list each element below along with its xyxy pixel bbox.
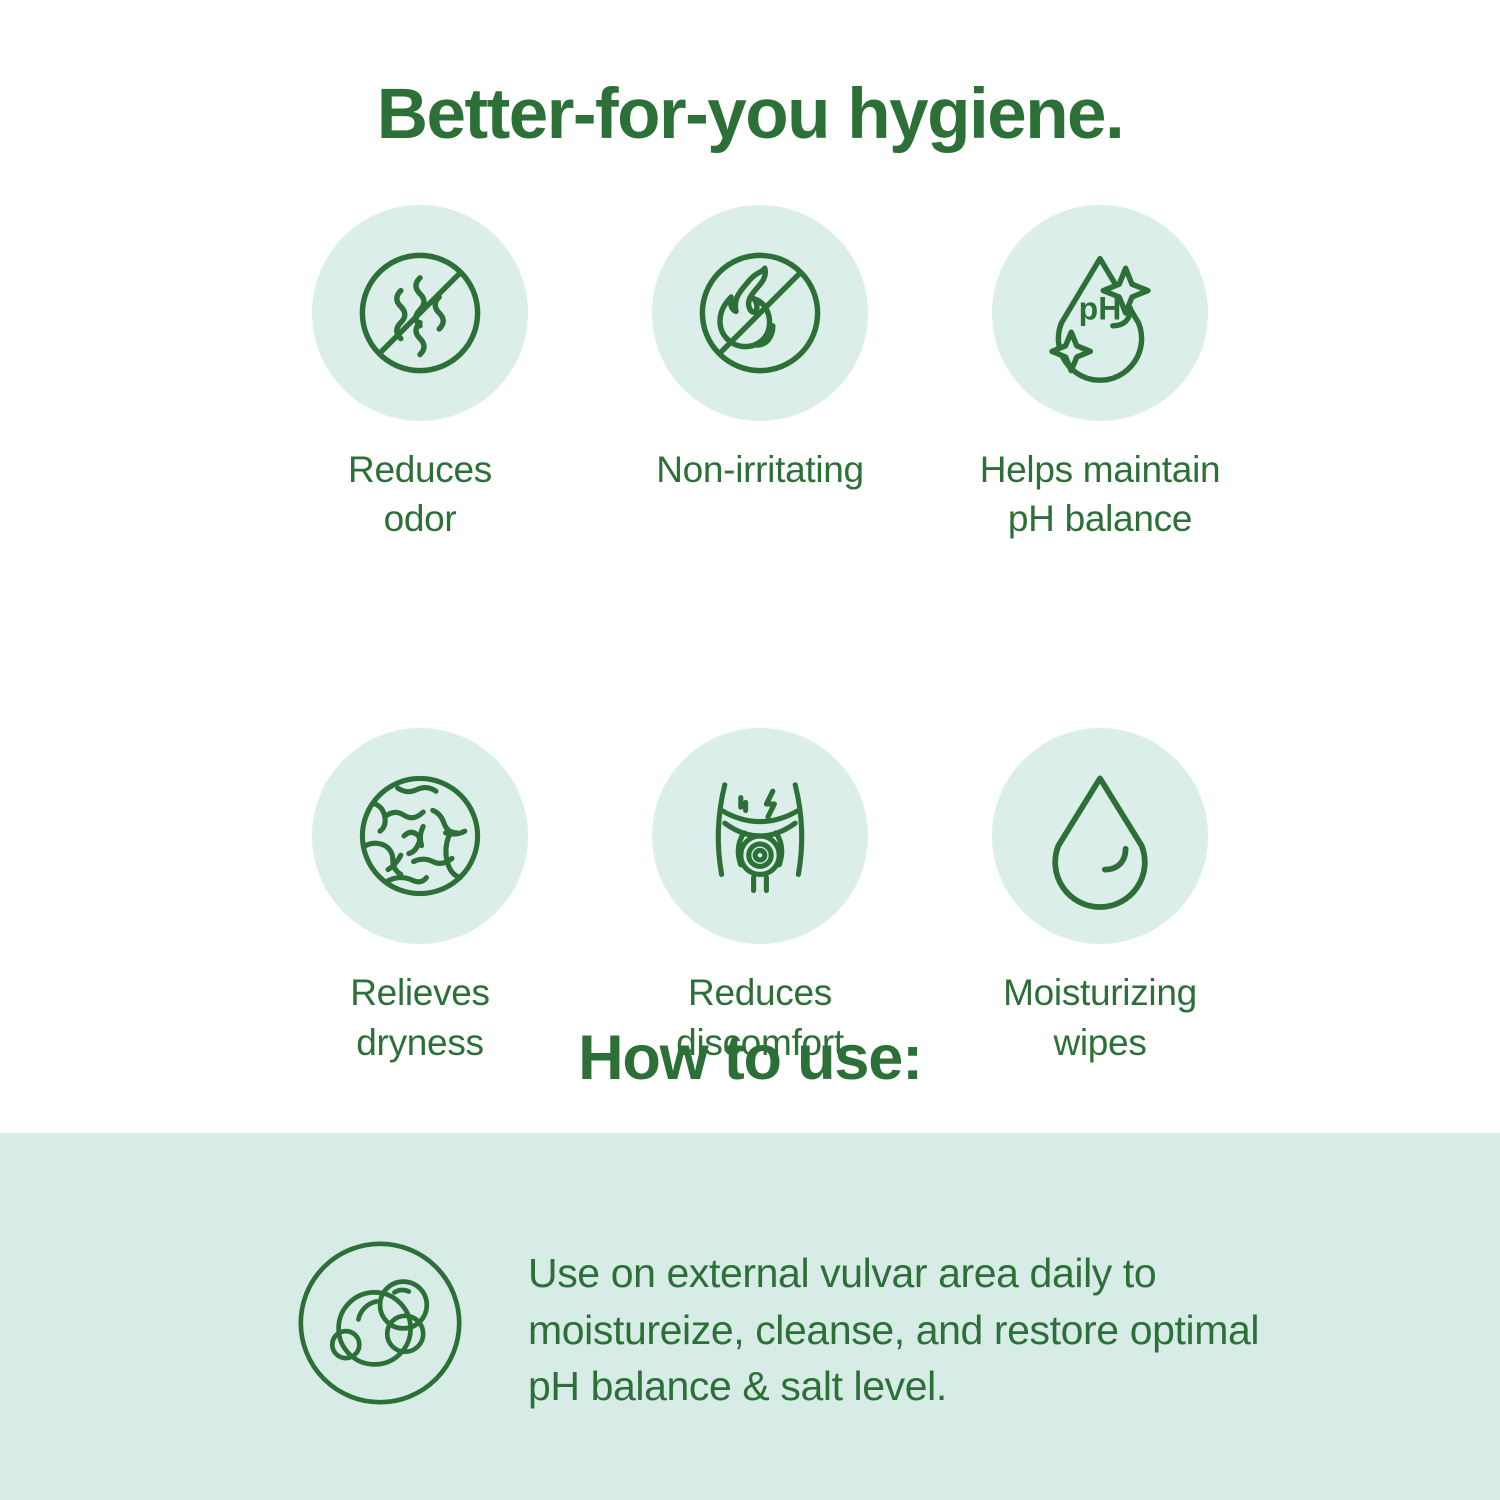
page-title: Better-for-you hygiene. bbox=[0, 78, 1500, 153]
how-to-use-icon-wrap bbox=[290, 1233, 470, 1413]
bubbles-cleansing-icon bbox=[290, 1233, 470, 1413]
benefit-label-line1: Helps maintain bbox=[980, 449, 1221, 490]
benefit-label: Non-irritating bbox=[656, 445, 864, 494]
benefit-icon-badge bbox=[992, 728, 1208, 944]
benefit-label: Helps maintain pH balance bbox=[980, 445, 1221, 543]
benefit-reduces-discomfort: Reduces discomfort bbox=[590, 728, 930, 1066]
benefits-row-2: Relieves dryness bbox=[250, 728, 1270, 1066]
dry-skin-circle-icon bbox=[340, 756, 500, 916]
ph-balance-droplet-icon: pH bbox=[1020, 233, 1180, 393]
benefit-moisturizing-wipes: Moisturizing wipes bbox=[930, 728, 1270, 1066]
benefits-grid: Reduces odor Non-irritati bbox=[250, 205, 1270, 1067]
benefit-icon-badge bbox=[652, 205, 868, 421]
benefit-reduces-odor: Reduces odor bbox=[250, 205, 590, 543]
benefit-label-line2: pH balance bbox=[1008, 498, 1192, 539]
pelvic-discomfort-icon bbox=[680, 756, 840, 916]
benefit-relieves-dryness: Relieves dryness bbox=[250, 728, 590, 1066]
no-odor-icon bbox=[340, 233, 500, 393]
benefit-label-line1: Relieves bbox=[350, 972, 490, 1013]
benefit-icon-badge: pH bbox=[992, 205, 1208, 421]
benefit-label-line1: Moisturizing bbox=[1003, 972, 1197, 1013]
benefit-non-irritating: Non-irritating bbox=[590, 205, 930, 494]
benefit-label-line2: odor bbox=[384, 498, 457, 539]
how-to-use-heading: How to use: bbox=[0, 1022, 1500, 1094]
benefits-row-1: Reduces odor Non-irritati bbox=[250, 205, 1270, 543]
water-droplet-icon bbox=[1020, 756, 1180, 916]
benefit-icon-badge bbox=[652, 728, 868, 944]
infographic-page: Better-for-you hygiene. bbox=[0, 0, 1500, 1500]
how-to-use-instruction: Use on external vulvar area daily to moi… bbox=[528, 1233, 1288, 1415]
benefit-ph-balance: pH Helps maintain pH balance bbox=[930, 205, 1270, 543]
no-irritation-flame-icon bbox=[680, 233, 840, 393]
benefit-icon-badge bbox=[312, 205, 528, 421]
benefit-label-line1: Reduces bbox=[348, 449, 492, 490]
how-to-use-band: Use on external vulvar area daily to moi… bbox=[0, 1133, 1500, 1500]
benefit-icon-badge bbox=[312, 728, 528, 944]
how-to-use-content: Use on external vulvar area daily to moi… bbox=[290, 1233, 1288, 1415]
benefit-label: Reduces odor bbox=[348, 445, 492, 543]
ph-label: pH bbox=[1079, 290, 1122, 326]
benefit-label-line1: Reduces bbox=[688, 972, 832, 1013]
